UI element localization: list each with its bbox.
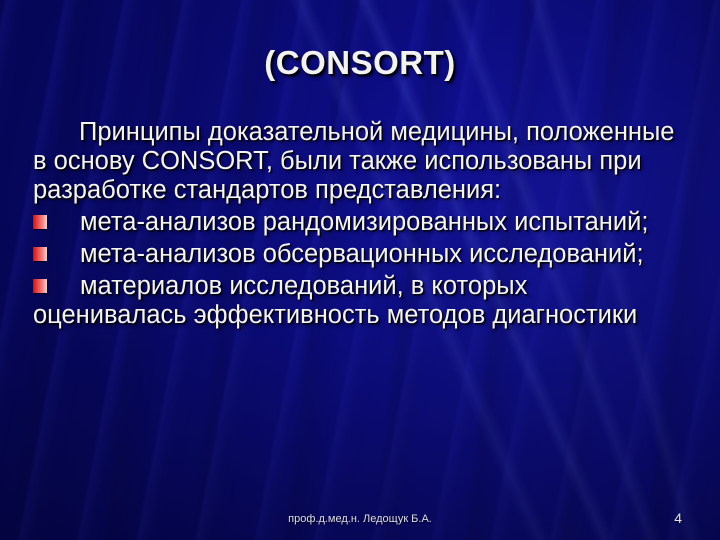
slide-body: Принципы доказательной медицины, положен…: [33, 118, 695, 330]
bullet-item-2-label: мета-анализов обсервационных исследовани…: [80, 240, 644, 268]
bullet-item-3: материалов исследований, в которых оцени…: [33, 272, 695, 330]
square-bullet-icon: [33, 279, 47, 293]
slide-page-number: 4: [674, 510, 682, 526]
square-bullet-icon: [33, 247, 47, 261]
square-bullet-icon: [33, 215, 47, 229]
footer-author: проф.д.мед.н. Ледощук Б.А.: [0, 513, 720, 525]
bullet-item-3-label: материалов исследований, в которых оцени…: [33, 272, 637, 329]
presentation-slide: (CONSORT) Принципы доказательной медицин…: [0, 0, 720, 540]
bullet-item-1-label: мета-анализов рандомизированных испытани…: [80, 208, 648, 236]
bullet-item-2: мета-анализов обсервационных исследовани…: [33, 240, 695, 269]
bullet-item-1: мета-анализов рандомизированных испытани…: [33, 208, 695, 237]
intro-paragraph: Принципы доказательной медицины, положен…: [33, 118, 695, 205]
slide-title: (CONSORT): [0, 44, 720, 82]
